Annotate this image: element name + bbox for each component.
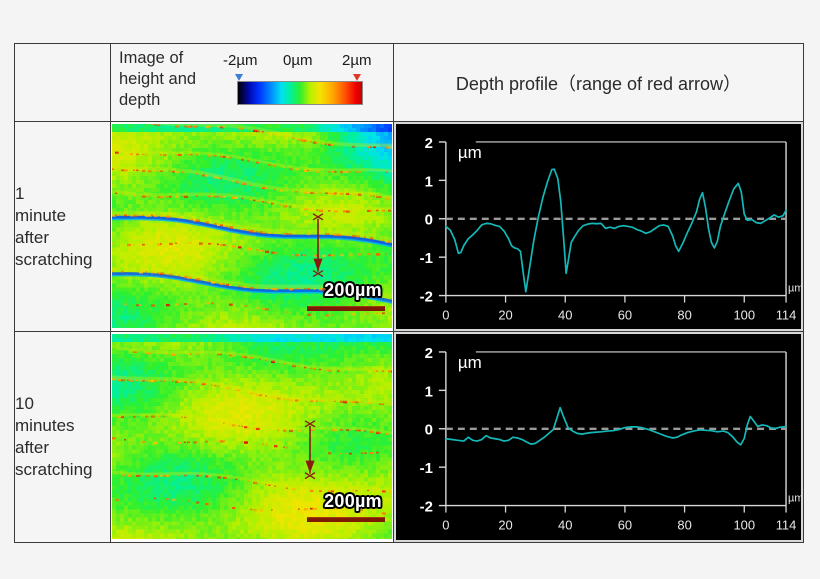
svg-text:-1: -1 [420,250,433,267]
image-column-title-line-2: height and [119,69,229,90]
row-label-line-3: after [15,437,110,459]
image-column-title-line-3: depth [119,90,229,111]
svg-text:0: 0 [442,308,449,323]
depth-profile-plot-svg-1: -2-1012020406080100114µmµm [396,124,801,329]
row-label-1-minute: 1 minute after scratching [15,122,111,332]
colorbar-mid-label: 0µm [283,52,312,69]
height-depth-image-canvas-1 [112,124,392,328]
header-depth-column-cell: Depth profile（range of red arrow） [394,44,804,122]
svg-text:0: 0 [425,212,433,229]
height-depth-image-1-minute: 200µm [111,122,393,331]
svg-text:1: 1 [425,173,433,190]
svg-text:80: 80 [677,308,691,323]
svg-text:60: 60 [618,308,632,323]
comparison-table-wrapper: Image of height and depth -2µm 0µm 2µm [14,43,803,541]
depth-column-title: Depth profile（range of red arrow） [456,74,741,94]
row-label-line-1: 1 [15,183,110,205]
height-depth-map-svg-1 [112,124,392,328]
comparison-table: Image of height and depth -2µm 0µm 2µm [14,43,804,543]
depth-profile-plot-svg-2: -2-1012020406080100114µmµm [396,334,801,539]
colorbar-tick-labels: -2µm 0µm 2µm [229,52,381,73]
height-depth-image-cell-1-minute: 200µm [111,122,394,332]
image-column-title: Image of height and depth [119,48,229,111]
svg-text:µm: µm [458,143,482,162]
colorbar-max-marker-icon [353,74,361,81]
colorbar-max-label: 2µm [342,52,371,69]
svg-text:40: 40 [558,308,572,323]
row-label-line-3: after [15,227,110,249]
depth-profile-chart-cell-1-minute: -2-1012020406080100114µmµm [394,122,804,332]
height-depth-map-svg-2 [112,334,392,538]
svg-text:µm: µm [788,283,801,295]
header-image-column-cell: Image of height and depth -2µm 0µm 2µm [111,44,394,122]
row-label-line-4: scratching [15,249,110,271]
colorbar-min-label: -2µm [223,52,257,69]
header-corner-cell [15,44,111,122]
colorbar-gradient-bar [237,81,363,105]
row-label-line-4: scratching [15,459,110,481]
height-depth-image-10-minutes: 200µm [111,332,393,541]
height-depth-image-canvas-2 [112,334,392,538]
scale-bar-2 [307,517,385,522]
row-label-line-1: 10 [15,393,110,415]
image-column-title-line-1: Image of [119,48,229,69]
depth-profile-chart-cell-10-minutes: -2-1012020406080100114µmµm [394,332,804,542]
svg-text:-2: -2 [420,289,433,306]
row-label-10-minutes: 10 minutes after scratching [15,332,111,542]
table-header-row: Image of height and depth -2µm 0µm 2µm [15,44,804,122]
table-row: 1 minute after scratching 200µm -2-10120… [15,122,804,332]
depth-profile-chart-1-minute: -2-1012020406080100114µmµm [394,122,803,331]
row-label-line-2: minute [15,205,110,227]
svg-text:20: 20 [498,308,512,323]
svg-text:2: 2 [425,135,433,152]
height-depth-image-cell-10-minutes: 200µm [111,332,394,542]
depth-profile-chart-10-minutes: -2-1012020406080100114µmµm [394,332,803,541]
svg-text:114: 114 [776,308,797,323]
svg-text:100: 100 [733,308,755,323]
height-depth-colorbar: -2µm 0µm 2µm [229,52,381,82]
row-label-line-2: minutes [15,415,110,437]
scale-bar-1 [307,306,385,311]
colorbar-min-marker-icon [235,74,243,81]
table-row: 10 minutes after scratching 200µm -2-101… [15,332,804,542]
